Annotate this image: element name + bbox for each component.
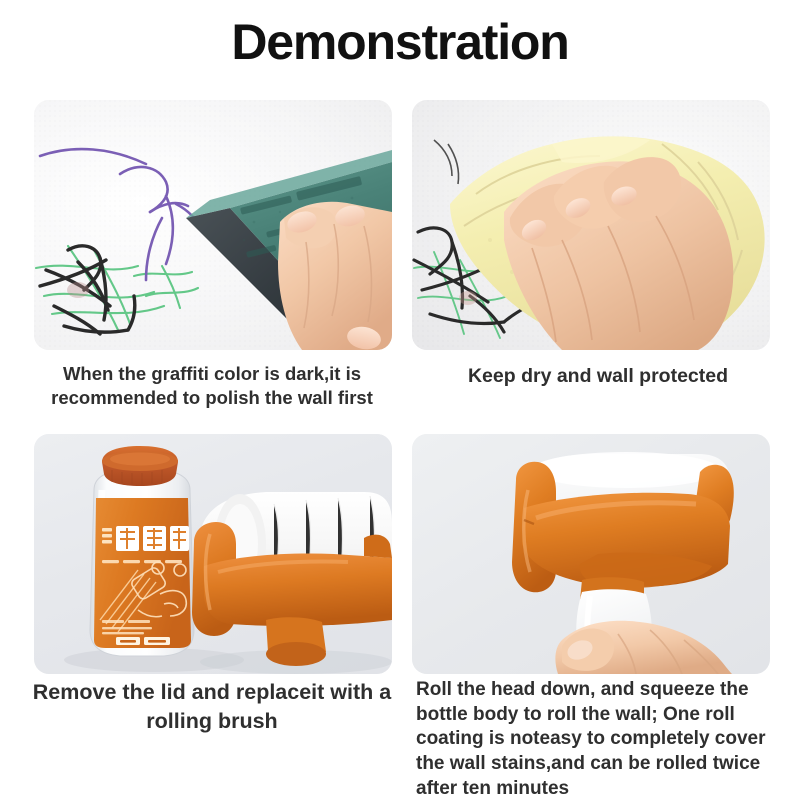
label-side-text [102,528,112,544]
caption-sanding: When the graffiti color is dark,it is re… [14,362,410,410]
roller-top-highlight [532,452,720,488]
page-title: Demonstration [0,12,800,72]
sanding-illustration [34,100,392,350]
graffiti-green [36,246,198,330]
caption-bottle: Remove the lid and replaceit with a roll… [14,678,410,736]
graffiti-smudge [67,282,89,298]
hand-holding-block [278,202,392,350]
graffiti-purple [40,149,202,280]
graffiti-smudge [459,291,477,305]
paint-bottle [90,446,194,656]
roller-head [192,492,392,666]
panel-bottle-photo [34,434,392,674]
roller-stem-base [266,642,326,666]
rolling-illustration [412,434,770,674]
panel-sanding-photo [34,100,392,350]
panel-wiping [412,100,770,350]
panel-rolling-photo [412,434,770,674]
panel-sanding [34,100,392,350]
graffiti-thin [434,140,459,184]
hand-gripping-bottle [555,621,732,674]
wiping-illustration [412,100,770,350]
panel-wiping-photo [412,100,770,350]
panel-rolling [412,434,770,674]
product-label [94,498,191,648]
roller-body [204,554,392,627]
caption-rolling: Roll the head down, and squeeze the bott… [416,678,784,801]
demonstration-page: Demonstration [0,0,800,800]
bottle-illustration [34,434,392,674]
panel-bottle [34,434,392,674]
caption-wiping: Keep dry and wall protected [412,364,784,389]
